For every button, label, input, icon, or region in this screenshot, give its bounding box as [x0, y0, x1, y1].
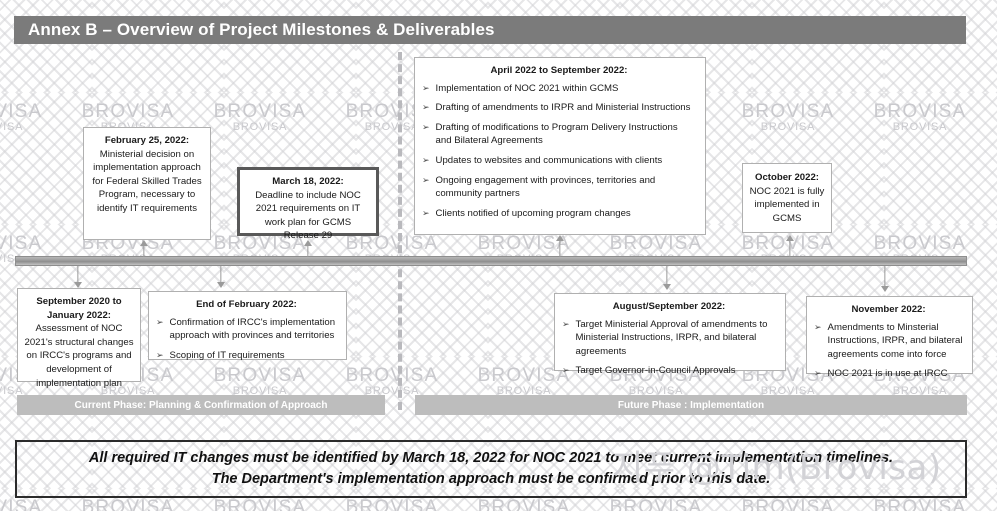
watermark-text: BROVISABROVISA: [0, 498, 62, 511]
milestone-card-feb25[interactable]: February 25, 2022: Ministerial decision …: [83, 127, 211, 240]
watermark-text: BROVISABROVISA: [0, 102, 62, 133]
arrow-stem: [143, 245, 144, 257]
watermark-text-small: BROVISA: [854, 0, 986, 1]
watermark-text: BROVISABROVISA: [194, 0, 326, 1]
watermark-text: BROVISABROVISA: [194, 366, 326, 397]
watermark-text: BROVISABROVISA: [722, 498, 854, 511]
bullet-arrow-icon: ➢: [422, 101, 430, 114]
connector-oct22: [785, 235, 795, 257]
watermark-text: BROVISABROVISA: [854, 498, 986, 511]
bullet-arrow-icon: ➢: [422, 121, 430, 134]
watermark-text-large: BROVISA: [194, 366, 326, 386]
watermark-text: BROVISABROVISA: [854, 0, 986, 1]
card-content: November 2022: ➢Amendments to Minsterial…: [807, 297, 972, 387]
bullet-item: ➢Drafting of amendments to IRPR and Mini…: [422, 101, 696, 115]
watermark-text-small: BROVISA: [986, 254, 997, 266]
bullet-text: Ongoing engagement with provinces, terri…: [436, 174, 696, 201]
arrow-stem: [77, 266, 78, 283]
arrow-head-icon: [217, 282, 225, 288]
card-header: April 2022 to September 2022:: [422, 64, 696, 78]
bullet-text: Amendments to Minsterial Instructions, I…: [828, 321, 963, 362]
bullet-text: Confirmation of IRCC's implementation ap…: [170, 316, 337, 343]
card-content: February 25, 2022: Ministerial decision …: [84, 128, 210, 222]
connector-sep2020: [73, 266, 83, 288]
bullet-list: ➢Implementation of NOC 2021 within GCMS➢…: [422, 82, 696, 221]
watermark-text-large: BROVISA: [194, 498, 326, 511]
watermark-text-large: BROVISA: [722, 498, 854, 511]
card-body: Assessment of NOC 2021's structural chan…: [24, 323, 133, 388]
watermark-text-large: BROVISA: [0, 234, 62, 254]
watermark-text-large: BROVISA: [326, 366, 458, 386]
callout-line-2: The Department's implementation approach…: [212, 469, 771, 490]
bullet-text: Scoping of IT requirements: [170, 349, 337, 363]
card-header: August/September 2022:: [562, 300, 776, 314]
bullet-arrow-icon: ➢: [156, 316, 164, 329]
bullet-text: Target Ministerial Approval of amendment…: [576, 318, 776, 359]
milestone-card-nov22[interactable]: November 2022: ➢Amendments to Minsterial…: [806, 296, 973, 374]
phase-divider: [398, 52, 402, 410]
watermark-text-large: BROVISA: [986, 234, 997, 254]
watermark-text-large: BROVISA: [458, 498, 590, 511]
card-content: April 2022 to September 2022: ➢Implement…: [415, 58, 705, 226]
card-header: October 2022:: [749, 171, 825, 185]
card-body: Ministerial decision on implementation a…: [92, 149, 201, 214]
arrow-stem: [884, 266, 885, 287]
watermark-text-large: BROVISA: [590, 234, 722, 254]
watermark-text: BROVISABROVISA: [194, 102, 326, 133]
watermark-text: BROVISABROVISA: [986, 234, 997, 265]
card-header: September 2020 to January 2022:: [24, 295, 134, 322]
bullet-item: ➢Implementation of NOC 2021 within GCMS: [422, 82, 696, 96]
phase-label-future: Future Phase : Implementation: [618, 400, 764, 411]
bullet-arrow-icon: ➢: [156, 349, 164, 362]
bullet-list: ➢Amendments to Minsterial Instructions, …: [814, 321, 963, 381]
watermark-text: BROVISABROVISA: [326, 366, 458, 397]
phase-bar-current: Current Phase: Planning & Confirmation o…: [17, 395, 385, 415]
bullet-item: ➢Target Ministerial Approval of amendmen…: [562, 318, 776, 359]
card-body: NOC 2021 is fully implemented in GCMS: [750, 186, 825, 224]
bullet-arrow-icon: ➢: [422, 154, 430, 167]
connector-feb25: [139, 240, 149, 257]
milestone-card-apr-sep[interactable]: April 2022 to September 2022: ➢Implement…: [414, 57, 706, 235]
watermark-text-small: BROVISA: [194, 122, 326, 134]
watermark-text: BROVISABROVISA: [590, 498, 722, 511]
bullet-list: ➢Confirmation of IRCC's implementation a…: [156, 316, 337, 363]
bullet-arrow-icon: ➢: [422, 207, 430, 220]
watermark-text-small: BROVISA: [986, 122, 997, 134]
bullet-text: NOC 2021 is in use at IRCC: [828, 367, 963, 381]
watermark-text-small: BROVISA: [62, 0, 194, 1]
watermark-text-large: BROVISA: [986, 498, 997, 511]
watermark-text-small: BROVISA: [0, 122, 62, 134]
milestone-card-end-feb[interactable]: End of February 2022: ➢Confirmation of I…: [148, 291, 347, 360]
page-title: Annex B – Overview of Project Milestones…: [14, 20, 495, 40]
card-header: November 2022:: [814, 303, 963, 317]
card-content: September 2020 to January 2022: Assessme…: [18, 289, 140, 396]
connector-end-feb: [216, 266, 226, 288]
bullet-item: ➢Confirmation of IRCC's implementation a…: [156, 316, 337, 343]
milestone-card-sep2020-jan2022[interactable]: September 2020 to January 2022: Assessme…: [17, 288, 141, 382]
watermark-text-large: BROVISA: [0, 102, 62, 122]
bullet-item: ➢Ongoing engagement with provinces, terr…: [422, 174, 696, 201]
watermark-text-large: BROVISA: [854, 102, 986, 122]
bullet-text: Target Governor-in-Council Approvals: [576, 364, 776, 378]
slide-canvas: BROVISABROVISABROVISABROVISABROVISABROVI…: [0, 0, 997, 511]
connector-aug-sep: [662, 266, 672, 290]
watermark-text: BROVISABROVISA: [458, 498, 590, 511]
arrow-stem: [220, 266, 221, 283]
card-content: End of February 2022: ➢Confirmation of I…: [149, 292, 346, 368]
watermark-text: BROVISABROVISA: [326, 0, 458, 1]
key-message-callout: All required IT changes must be identifi…: [15, 440, 967, 498]
bullet-item: ➢Updates to websites and communications …: [422, 154, 696, 168]
arrow-stem: [666, 266, 667, 285]
watermark-text: BROVISABROVISA: [722, 0, 854, 1]
watermark-text: BROVISABROVISA: [986, 366, 997, 397]
watermark-text-small: BROVISA: [722, 0, 854, 1]
bullet-item: ➢Clients notified of upcoming program ch…: [422, 207, 696, 221]
bullet-arrow-icon: ➢: [422, 82, 430, 95]
watermark-text-large: BROVISA: [986, 102, 997, 122]
bullet-item: ➢Drafting of modifications to Program De…: [422, 121, 696, 148]
watermark-text-large: BROVISA: [62, 498, 194, 511]
watermark-text-large: BROVISA: [722, 102, 854, 122]
watermark-text: BROVISABROVISA: [986, 0, 997, 1]
bullet-arrow-icon: ➢: [562, 318, 570, 331]
watermark-text: BROVISABROVISA: [326, 498, 458, 511]
watermark-text: BROVISABROVISA: [986, 498, 997, 511]
milestone-card-aug-sep[interactable]: August/September 2022: ➢Target Ministeri…: [554, 293, 786, 371]
card-body: Deadline to include NOC 2021 requirement…: [255, 190, 361, 242]
connector-apr-sep: [555, 235, 565, 257]
watermark-text-large: BROVISA: [590, 498, 722, 511]
watermark-text: BROVISABROVISA: [0, 0, 62, 1]
timeline-bar: [15, 256, 967, 266]
slide-title-bar: Annex B – Overview of Project Milestones…: [14, 16, 966, 44]
watermark-text-small: BROVISA: [194, 0, 326, 1]
milestone-card-oct22[interactable]: October 2022: NOC 2021 is fully implemen…: [742, 163, 832, 233]
card-content: March 18, 2022: Deadline to include NOC …: [240, 170, 376, 248]
arrow-stem: [789, 240, 790, 257]
watermark-text-large: BROVISA: [854, 234, 986, 254]
bullet-text: Clients notified of upcoming program cha…: [436, 207, 696, 221]
watermark-text-small: BROVISA: [986, 0, 997, 1]
watermark-text-small: BROVISA: [0, 0, 62, 1]
watermark-text: BROVISABROVISA: [722, 102, 854, 133]
connector-nov22: [880, 266, 890, 292]
watermark-text: BROVISABROVISA: [986, 102, 997, 133]
arrow-stem: [559, 240, 560, 257]
watermark-text-large: BROVISA: [458, 234, 590, 254]
watermark-text-large: BROVISA: [62, 102, 194, 122]
watermark-text-small: BROVISA: [590, 0, 722, 1]
milestone-card-mar18[interactable]: March 18, 2022: Deadline to include NOC …: [237, 167, 379, 236]
watermark-text-small: BROVISA: [854, 122, 986, 134]
card-content: August/September 2022: ➢Target Ministeri…: [555, 294, 785, 384]
phase-label-current: Current Phase: Planning & Confirmation o…: [75, 400, 328, 411]
bullet-item: ➢Amendments to Minsterial Instructions, …: [814, 321, 963, 362]
card-header: February 25, 2022:: [91, 134, 203, 148]
watermark-text-large: BROVISA: [854, 498, 986, 511]
bullet-text: Drafting of amendments to IRPR and Minis…: [436, 101, 696, 115]
card-header: March 18, 2022:: [246, 175, 370, 189]
watermark-text-large: BROVISA: [194, 102, 326, 122]
watermark-text-large: BROVISA: [0, 498, 62, 511]
card-header: End of February 2022:: [156, 298, 337, 312]
watermark-text: BROVISABROVISA: [194, 498, 326, 511]
arrow-head-icon: [881, 286, 889, 292]
watermark-text: BROVISABROVISA: [854, 102, 986, 133]
watermark-text-small: BROVISA: [722, 122, 854, 134]
bullet-arrow-icon: ➢: [562, 364, 570, 377]
card-content: October 2022: NOC 2021 is fully implemen…: [743, 164, 831, 232]
bullet-arrow-icon: ➢: [422, 174, 430, 187]
watermark-text-small: BROVISA: [458, 0, 590, 1]
watermark-text-small: BROVISA: [986, 386, 997, 398]
bullet-arrow-icon: ➢: [814, 321, 822, 334]
watermark-text: BROVISABROVISA: [590, 0, 722, 1]
bullet-item: ➢NOC 2021 is in use at IRCC: [814, 367, 963, 381]
arrow-head-icon: [663, 284, 671, 290]
watermark-text: BROVISABROVISA: [62, 0, 194, 1]
bullet-text: Drafting of modifications to Program Del…: [436, 121, 696, 148]
watermark-text-small: BROVISA: [326, 0, 458, 1]
bullet-item: ➢Target Governor-in-Council Approvals: [562, 364, 776, 378]
callout-line-1: All required IT changes must be identifi…: [89, 448, 893, 469]
bullet-item: ➢Scoping of IT requirements: [156, 349, 337, 363]
bullet-text: Implementation of NOC 2021 within GCMS: [436, 82, 696, 96]
bullet-list: ➢Target Ministerial Approval of amendmen…: [562, 318, 776, 378]
watermark-text: BROVISABROVISA: [458, 0, 590, 1]
phase-bar-future: Future Phase : Implementation: [415, 395, 967, 415]
bullet-text: Updates to websites and communications w…: [436, 154, 696, 168]
watermark-text: BROVISABROVISA: [62, 498, 194, 511]
watermark-text-large: BROVISA: [326, 498, 458, 511]
watermark-text-large: BROVISA: [986, 366, 997, 386]
bullet-arrow-icon: ➢: [814, 367, 822, 380]
